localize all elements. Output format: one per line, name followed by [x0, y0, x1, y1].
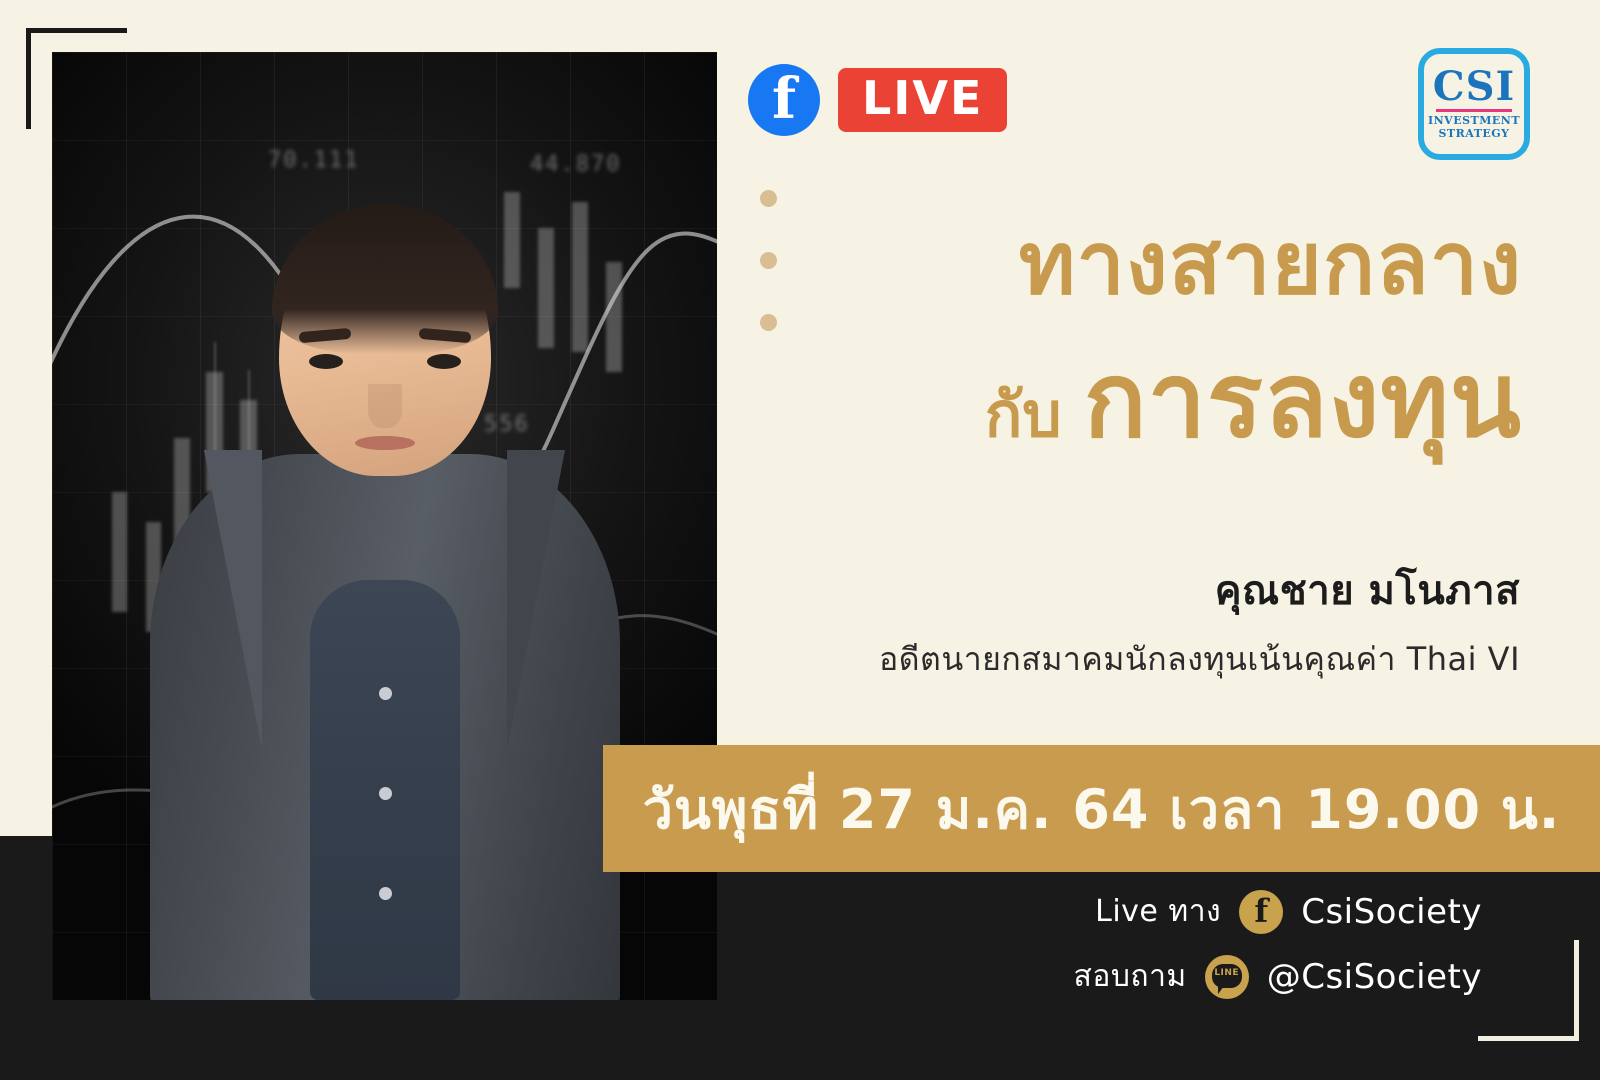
lapel-left — [204, 450, 262, 750]
chart-number: 70.111 — [268, 148, 359, 173]
shirt-button — [379, 887, 392, 900]
dot — [760, 190, 777, 207]
csi-logo: CSI INVESTMENT STRATEGY — [1418, 48, 1530, 160]
lapel-right — [507, 450, 565, 750]
speaker-figure — [52, 200, 717, 1000]
poster-canvas: 70.111 44.870 556 — [0, 0, 1600, 1080]
mouth — [355, 436, 415, 450]
line-bubble: LINE — [1212, 964, 1242, 988]
eye-left — [309, 354, 343, 369]
facebook-glyph: f — [1239, 894, 1283, 926]
facebook-icon[interactable]: f — [1239, 890, 1283, 934]
shirt-button — [379, 687, 392, 700]
csi-logo-divider — [1436, 109, 1512, 112]
event-title: ทางสายกลาง กับ การลงทุน — [985, 218, 1522, 482]
speaker-info: คุณชาย มโนภาส อดีตนายกสมาคมนักลงทุนเน้นค… — [879, 558, 1520, 685]
facebook-icon — [748, 64, 820, 136]
dot — [760, 314, 777, 331]
contact-row-facebook: Live ทาง f CsiSociety — [1095, 888, 1482, 935]
csi-logo-subtitle-2: STRATEGY — [1438, 128, 1509, 141]
csi-logo-title: CSI — [1433, 68, 1515, 106]
title-line-2: กับ การลงทุน — [985, 317, 1522, 482]
line-word: LINE — [1212, 968, 1242, 978]
title-main: การลงทุน — [1084, 317, 1522, 482]
line-handle[interactable]: @CsiSociety — [1267, 957, 1482, 997]
title-line-1: ทางสายกลาง — [985, 218, 1522, 311]
title-prefix: กับ — [985, 366, 1062, 464]
nose — [368, 384, 402, 428]
contact-label: Live ทาง — [1095, 888, 1221, 935]
decorative-dots — [760, 190, 777, 376]
contact-list: Live ทาง f CsiSociety สอบถาม LINE @CsiSo… — [1074, 888, 1482, 1000]
date-time-text: วันพุธที่ 27 ม.ค. 64 เวลา 19.00 น. — [643, 766, 1561, 852]
csi-logo-subtitle-1: INVESTMENT — [1428, 115, 1520, 128]
contact-label: สอบถาม — [1074, 953, 1187, 1000]
speaker-name: คุณชาย มโนภาส — [879, 558, 1520, 622]
corner-bracket-bottom-right — [1478, 940, 1579, 1041]
dot — [760, 252, 777, 269]
shirt-button — [379, 787, 392, 800]
date-time-banner: วันพุธที่ 27 ม.ค. 64 เวลา 19.00 น. — [603, 745, 1600, 872]
chart-number: 44.870 — [530, 152, 621, 177]
line-icon[interactable]: LINE — [1205, 955, 1249, 999]
speaker-role: อดีตนายกสมาคมนักลงทุนเน้นคุณค่า Thai VI — [879, 634, 1520, 685]
facebook-handle[interactable]: CsiSociety — [1301, 892, 1482, 932]
contact-row-line: สอบถาม LINE @CsiSociety — [1074, 953, 1482, 1000]
eye-right — [427, 354, 461, 369]
facebook-live-badge: LIVE — [748, 64, 1007, 136]
face — [279, 208, 491, 476]
live-label: LIVE — [838, 68, 1007, 132]
